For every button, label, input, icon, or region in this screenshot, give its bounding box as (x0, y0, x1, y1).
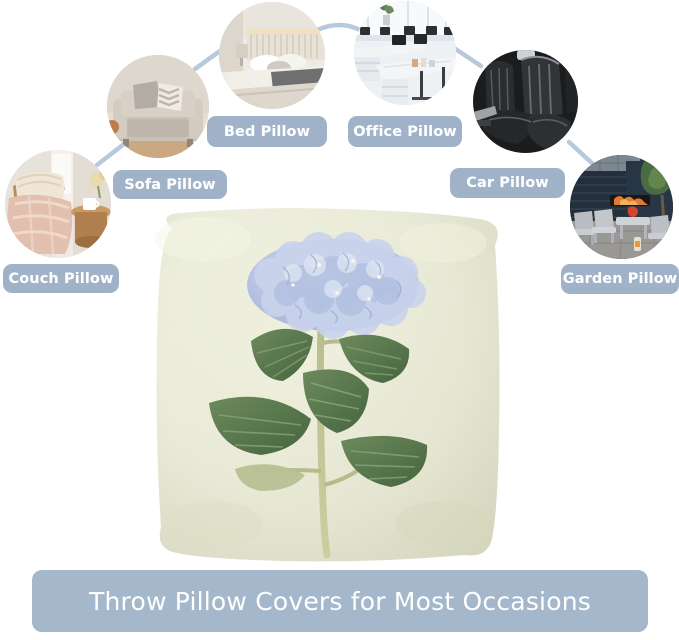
label-office-pillow-text: Office Pillow (353, 124, 457, 140)
garden-scene-art (570, 155, 673, 259)
label-garden-pillow-text: Garden Pillow (563, 271, 678, 287)
label-couch-pillow-text: Couch Pillow (9, 271, 114, 287)
scene-garden (570, 155, 673, 259)
scene-office (354, 1, 456, 105)
label-bed-pillow-text: Bed Pillow (224, 124, 310, 140)
sofa-scene-art (107, 55, 209, 158)
label-office-pillow[interactable]: Office Pillow (348, 116, 462, 147)
label-car-pillow[interactable]: Car Pillow (450, 168, 565, 198)
scene-car (473, 50, 578, 153)
label-couch-pillow[interactable]: Couch Pillow (3, 264, 119, 293)
label-bed-pillow[interactable]: Bed Pillow (207, 116, 327, 147)
bed-scene-art (219, 2, 325, 109)
scene-bed (219, 2, 325, 109)
office-scene-art (354, 1, 456, 105)
label-sofa-pillow[interactable]: Sofa Pillow (113, 170, 227, 199)
scene-sofa (107, 55, 209, 158)
pillow-art (143, 203, 513, 569)
bottom-banner: Throw Pillow Covers for Most Occasions (32, 570, 648, 632)
banner-text: Throw Pillow Covers for Most Occasions (89, 587, 591, 616)
car-scene-art (473, 50, 578, 153)
infographic-stage: Couch Pillow (0, 0, 679, 640)
label-garden-pillow[interactable]: Garden Pillow (561, 264, 679, 294)
product-pillow (143, 203, 513, 569)
label-sofa-pillow-text: Sofa Pillow (124, 177, 216, 193)
couch-scene-art (5, 150, 111, 258)
label-car-pillow-text: Car Pillow (466, 175, 549, 191)
scene-couch (5, 150, 111, 258)
